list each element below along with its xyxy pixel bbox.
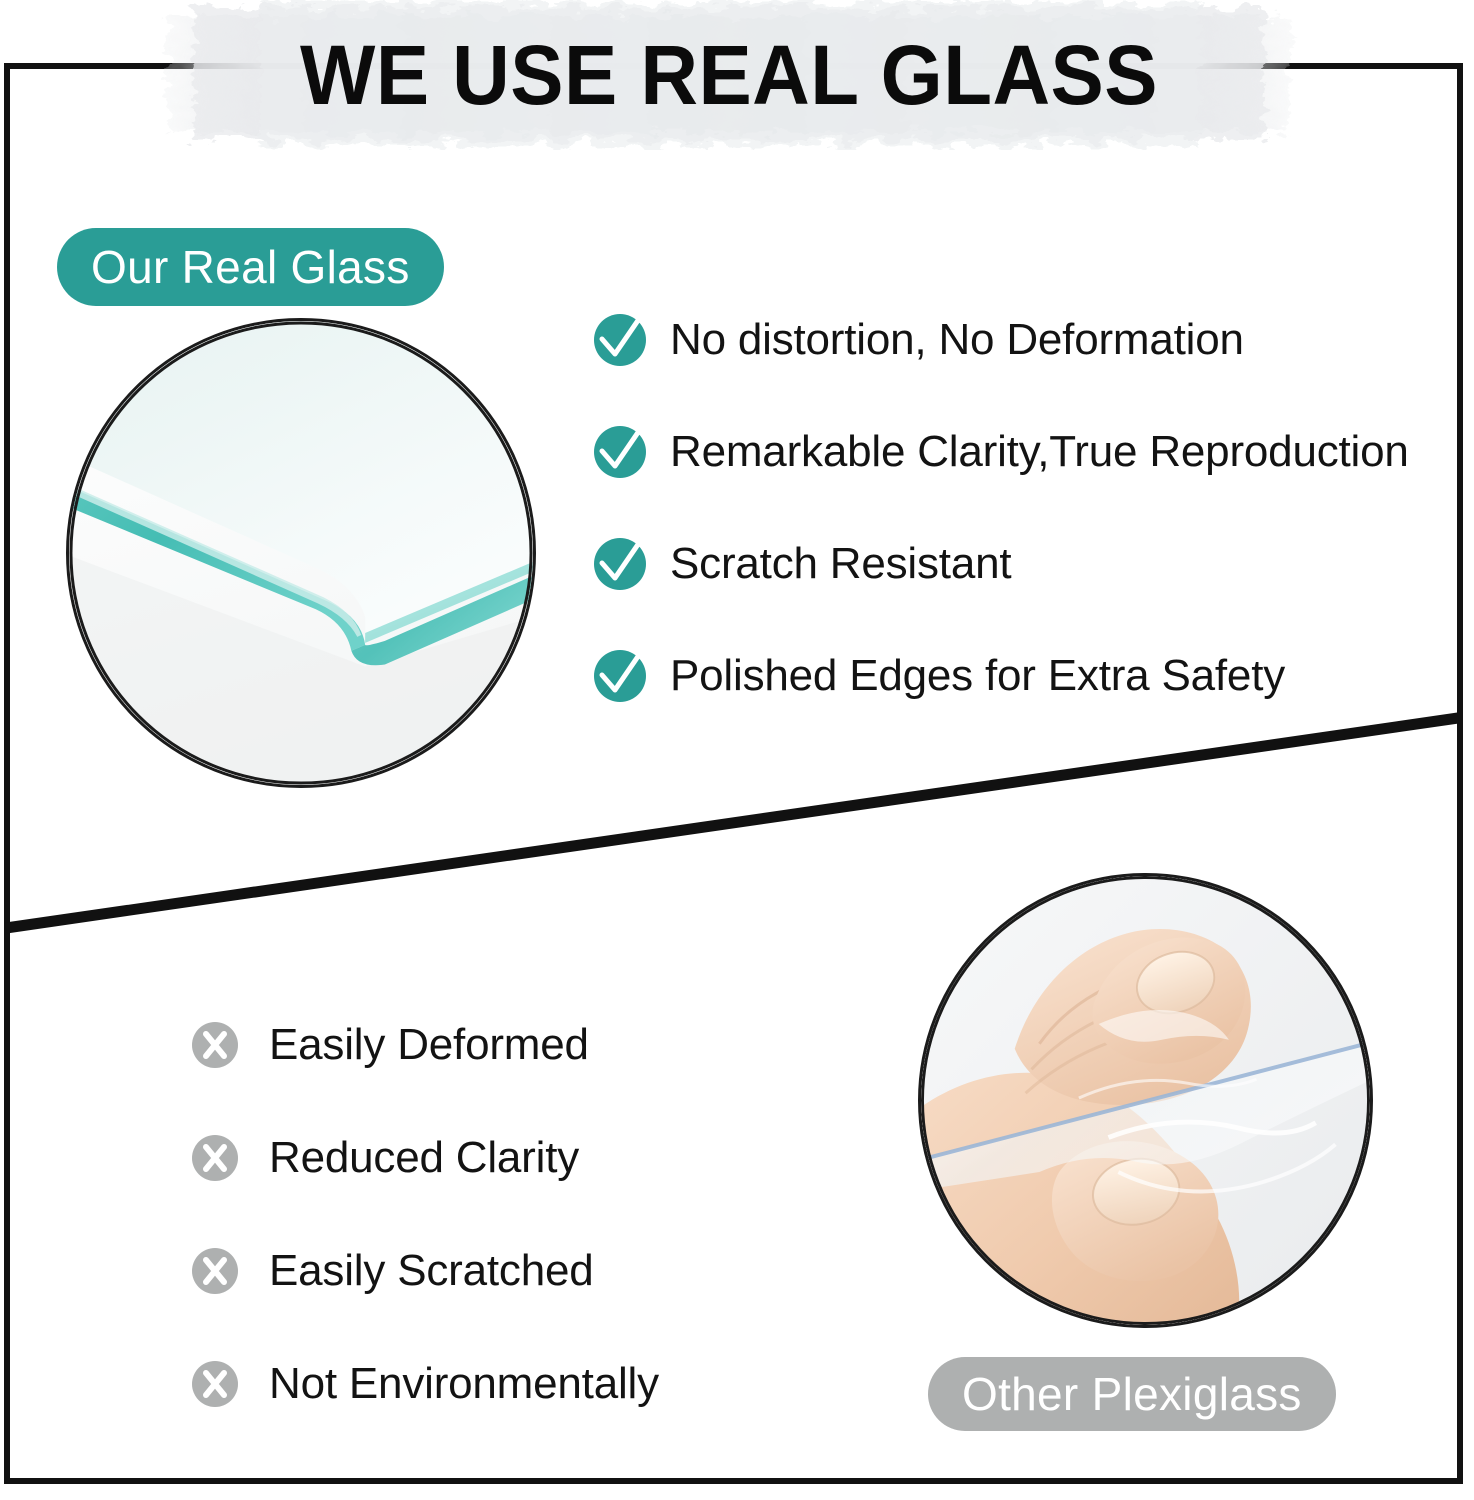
check-icon — [592, 312, 648, 368]
infographic-poster: WE USE REAL GLASS Our Real Glass — [0, 0, 1474, 1500]
our-real-glass-pill-label: Our Real Glass — [91, 240, 410, 294]
drawback-label: Not Environmentally — [269, 1362, 659, 1406]
other-plexiglass-pill-label: Other Plexiglass — [962, 1367, 1302, 1421]
our-glass-feature-list: No distortion, No Deformation Remarkable… — [592, 284, 1462, 732]
real-glass-corner-photo — [66, 318, 536, 788]
feature-item: Remarkable Clarity,True Reproduction — [592, 396, 1462, 508]
drawback-item: Easily Scratched — [191, 1214, 831, 1327]
feature-item: Polished Edges for Extra Safety — [592, 620, 1462, 732]
title-banner: WE USE REAL GLASS — [150, 0, 1308, 150]
x-icon — [191, 1021, 239, 1069]
hand-bending-plexiglass-photo — [918, 873, 1373, 1328]
drawback-item: Easily Deformed — [191, 988, 831, 1101]
drawback-item: Not Environmentally — [191, 1327, 831, 1440]
feature-label: Remarkable Clarity,True Reproduction — [670, 430, 1409, 474]
drawback-label: Easily Scratched — [269, 1249, 594, 1293]
x-icon — [191, 1134, 239, 1182]
feature-item: Scratch Resistant — [592, 508, 1462, 620]
our-real-glass-pill: Our Real Glass — [57, 228, 444, 306]
drawback-label: Easily Deformed — [269, 1023, 589, 1067]
x-icon — [191, 1247, 239, 1295]
feature-item: No distortion, No Deformation — [592, 284, 1462, 396]
drawback-item: Reduced Clarity — [191, 1101, 831, 1214]
check-icon — [592, 424, 648, 480]
feature-label: Scratch Resistant — [670, 542, 1011, 586]
drawback-label: Reduced Clarity — [269, 1136, 579, 1180]
other-plexiglass-pill: Other Plexiglass — [928, 1357, 1336, 1431]
feature-label: Polished Edges for Extra Safety — [670, 654, 1285, 698]
page-title: WE USE REAL GLASS — [179, 0, 1279, 150]
check-icon — [592, 536, 648, 592]
plexiglass-drawback-list: Easily Deformed Reduced Clarity Easily S… — [191, 988, 831, 1440]
check-icon — [592, 648, 648, 704]
x-icon — [191, 1360, 239, 1408]
feature-label: No distortion, No Deformation — [670, 318, 1244, 362]
